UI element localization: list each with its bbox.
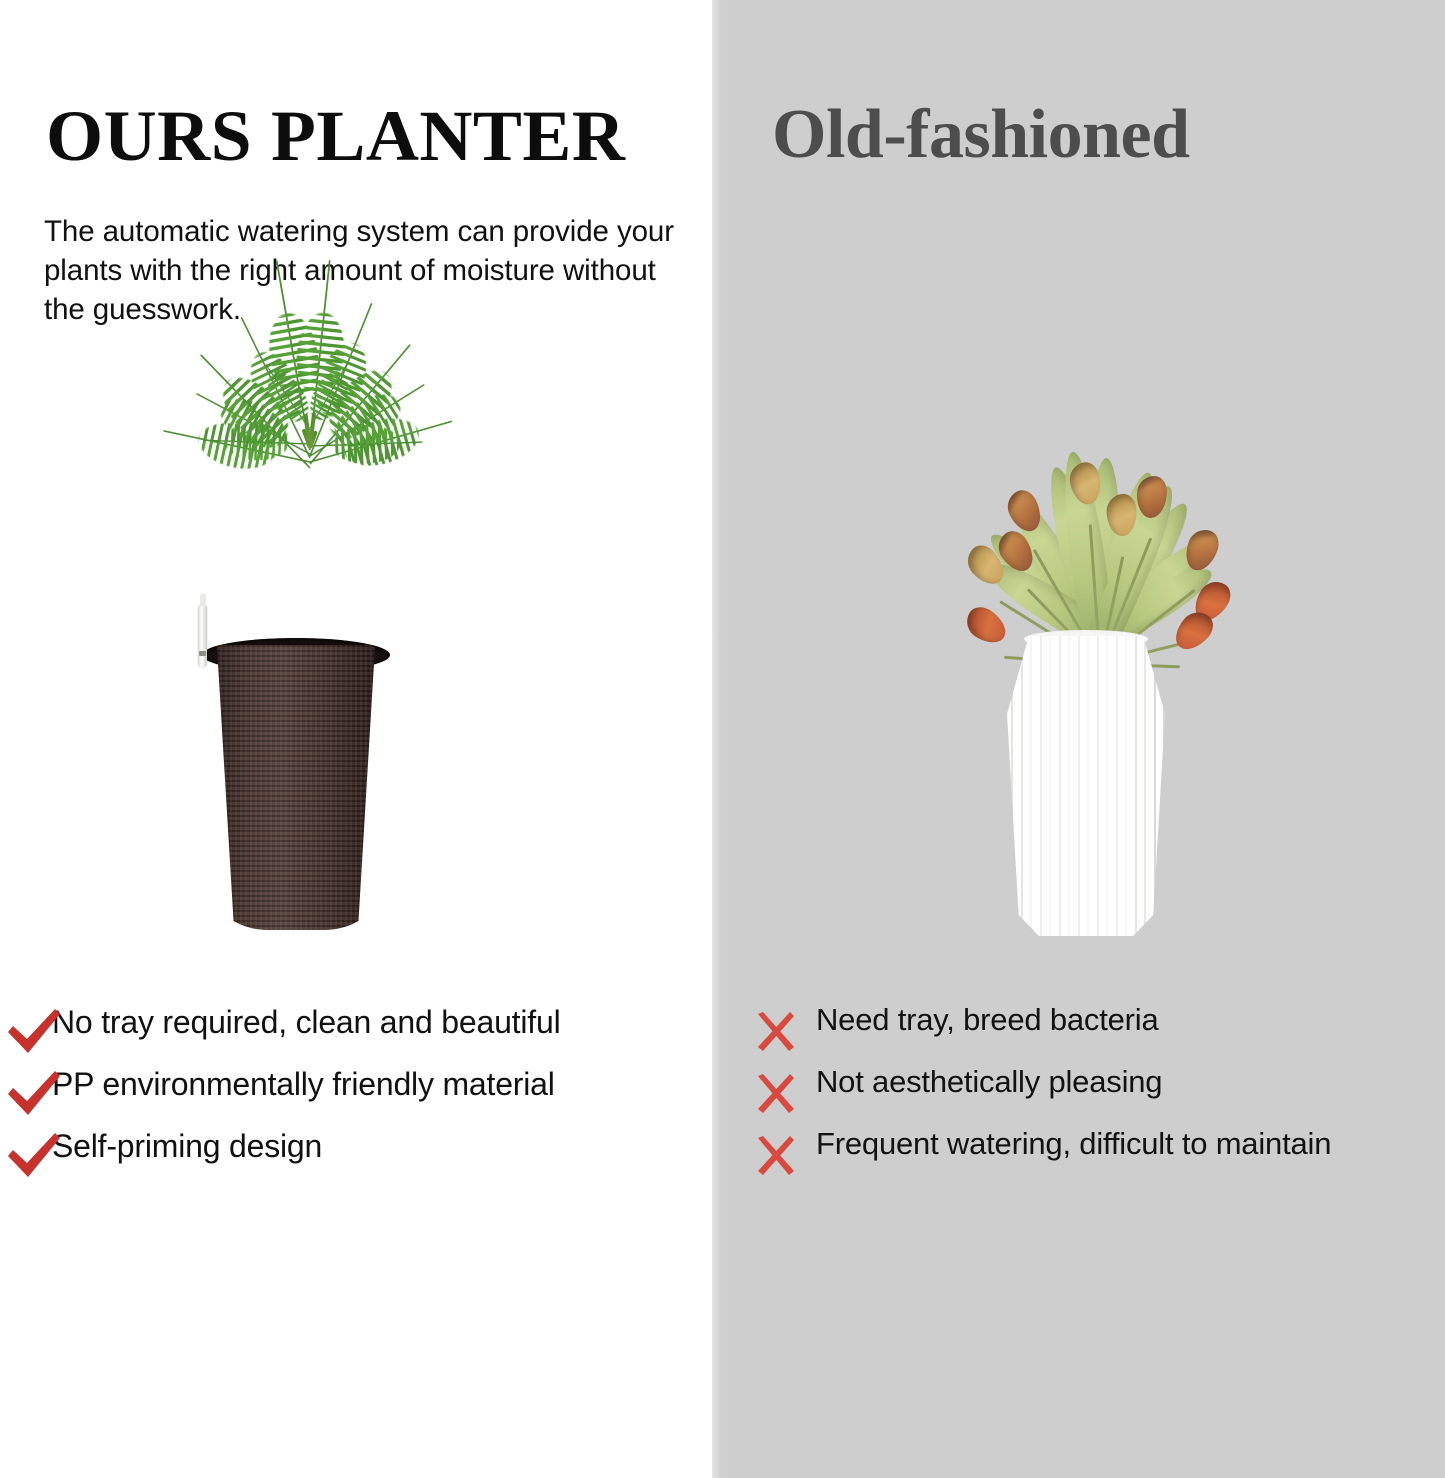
check-icon <box>6 1130 62 1184</box>
list-item: Not aesthetically pleasing <box>752 1064 1402 1116</box>
list-item-label: Frequent watering, difficult to maintain <box>816 1126 1331 1162</box>
fluted-ceramic-vase <box>1002 636 1170 936</box>
list-item: PP environmentally friendly material <box>6 1066 606 1122</box>
list-item: Self-priming design <box>6 1128 606 1184</box>
list-item: Frequent watering, difficult to maintain <box>752 1126 1402 1178</box>
comparison-infographic: OURS PLANTER The automatic watering syst… <box>0 0 1445 1478</box>
palm-frond <box>203 435 310 450</box>
list-item-label: No tray required, clean and beautiful <box>52 1004 560 1041</box>
old-fashioned-product-image <box>940 400 1260 940</box>
x-icon <box>752 1010 800 1054</box>
list-item-label: Need tray, breed bacteria <box>816 1002 1159 1038</box>
palm-frond <box>310 436 423 451</box>
list-item-label: Not aesthetically pleasing <box>816 1064 1162 1100</box>
page-title-old-fashioned: Old-fashioned <box>772 100 1190 170</box>
ours-product-image <box>150 400 470 940</box>
list-item: No tray required, clean and beautiful <box>6 1004 606 1060</box>
check-icon <box>6 1006 62 1060</box>
pros-list: No tray required, clean and beautifulPP … <box>6 1004 606 1190</box>
page-title-ours: OURS PLANTER <box>46 100 625 172</box>
list-item-label: PP environmentally friendly material <box>52 1066 555 1103</box>
check-icon <box>6 1068 62 1122</box>
x-icon <box>752 1072 800 1116</box>
x-icon <box>752 1134 800 1178</box>
list-item: Need tray, breed bacteria <box>752 1002 1402 1054</box>
list-item-label: Self-priming design <box>52 1128 322 1165</box>
product-imagery <box>0 390 1445 950</box>
cons-list: Need tray, breed bacteriaNot aesthetical… <box>752 1002 1402 1188</box>
water-level-indicator-icon <box>198 605 207 667</box>
wilted-flower-head <box>961 602 1013 650</box>
wicker-planter-body <box>210 645 382 930</box>
